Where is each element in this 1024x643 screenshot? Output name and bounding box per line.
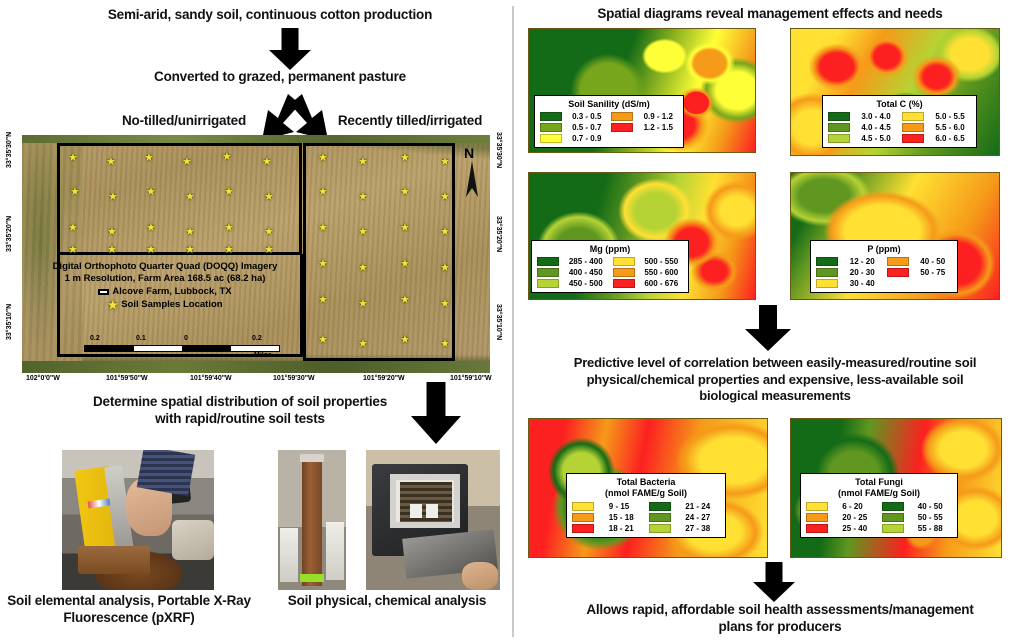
legend-swatch bbox=[816, 279, 838, 288]
legend-value: 21 - 24 bbox=[685, 502, 720, 511]
legend-swatch bbox=[572, 513, 594, 522]
legend-p: P (ppm) 12 - 20 40 - 50 20 - 30 50 - 75 … bbox=[810, 240, 958, 293]
map-vegetation-strip bbox=[22, 361, 490, 373]
sample-star: ★ bbox=[222, 152, 232, 163]
sample-star: ★ bbox=[224, 223, 234, 234]
sample-star: ★ bbox=[358, 263, 368, 274]
legend-swatch bbox=[816, 257, 838, 266]
photo1-caption: Soil elemental analysis, Portable X-Ray … bbox=[2, 592, 256, 627]
sample-star: ★ bbox=[318, 187, 328, 198]
operator-hand bbox=[462, 562, 498, 590]
legend-value: 6 - 20 bbox=[842, 502, 876, 511]
legend-swatch bbox=[537, 257, 559, 266]
legend-subtitle: (nmol FAME/g Soil) bbox=[572, 488, 720, 498]
soil-sample-tray bbox=[78, 546, 150, 574]
column-divider bbox=[512, 6, 514, 637]
legend-title: Mg (ppm) bbox=[537, 244, 683, 254]
sample-star: ★ bbox=[107, 227, 117, 238]
map-ytick-left-1: 33°35'20"N bbox=[6, 216, 13, 252]
legend-swatch bbox=[611, 112, 633, 121]
sample-star: ★ bbox=[440, 263, 450, 274]
legend-value: 600 - 676 bbox=[644, 279, 683, 288]
map-legend-farm: Alcove Farm, Lubbock, TX bbox=[112, 286, 231, 298]
sample-star: ★ bbox=[224, 245, 234, 256]
soil-core-tube bbox=[302, 454, 322, 586]
map-legend-samples: Soil Samples Location bbox=[121, 299, 222, 311]
sample-star: ★ bbox=[318, 295, 328, 306]
map-xtick-3: 101°59'30"W bbox=[273, 375, 315, 382]
step3-text: Determine spatial distribution of soil p… bbox=[80, 393, 400, 428]
photo2-caption: Soil physical, chemical analysis bbox=[262, 592, 512, 609]
arrow-step1-to-step2 bbox=[268, 28, 312, 70]
photo-pxrf-analyzer bbox=[62, 450, 214, 590]
legend-value: 3.0 - 4.0 bbox=[861, 112, 897, 121]
legend-swatch bbox=[882, 502, 904, 511]
legend-value: 55 - 88 bbox=[918, 524, 952, 533]
sample-star: ★ bbox=[185, 192, 195, 203]
legend-swatch bbox=[611, 123, 633, 132]
legend-swatch bbox=[649, 502, 671, 511]
legend-swatch bbox=[540, 134, 562, 143]
sample-star: ★ bbox=[264, 192, 274, 203]
legend-swatch bbox=[649, 513, 671, 522]
map-xtick-2: 101°59'40"W bbox=[190, 375, 232, 382]
legend-total-fungi: Total Fungi (nmol FAME/g Soil) 6 - 20 40… bbox=[800, 473, 958, 538]
sample-bags bbox=[172, 520, 214, 560]
legend-value: 25 - 40 bbox=[842, 524, 876, 533]
scale-bar bbox=[84, 345, 280, 352]
sample-star: ★ bbox=[185, 245, 195, 256]
legend-swatch bbox=[902, 123, 924, 132]
sample-star: ★ bbox=[358, 157, 368, 168]
step2-text: Converted to grazed, permanent pasture bbox=[90, 68, 470, 85]
legend-soil-salinity: Soil Sanility (dS/m) 0.3 - 0.5 0.9 - 1.2… bbox=[534, 95, 684, 148]
map-caption: Digital Orthophoto Quarter Quad (DOQQ) I… bbox=[30, 261, 300, 311]
legend-value: 12 - 20 bbox=[850, 257, 882, 266]
legend-title: Soil Sanility (dS/m) bbox=[540, 99, 678, 109]
legend-value: 0.9 - 1.2 bbox=[644, 112, 678, 121]
lab-bottle-right bbox=[326, 522, 344, 580]
sample-star: ★ bbox=[400, 187, 410, 198]
legend-value: 1.2 - 1.5 bbox=[644, 123, 678, 132]
legend-value: 50 - 75 bbox=[920, 268, 952, 277]
poster-root: Semi-arid, sandy soil, continuous cotton… bbox=[0, 0, 1024, 643]
legend-swatch bbox=[882, 513, 904, 522]
legend-swatch bbox=[806, 524, 828, 533]
sample-star: ★ bbox=[144, 153, 154, 164]
legend-value: 24 - 27 bbox=[685, 513, 720, 522]
sample-star: ★ bbox=[106, 157, 116, 168]
legend-value: 40 - 50 bbox=[918, 502, 952, 511]
sample-star: ★ bbox=[318, 153, 328, 164]
farm-boundary-swatch-icon bbox=[98, 289, 109, 295]
legend-value: 4.5 - 5.0 bbox=[861, 134, 897, 143]
legend-value: 550 - 600 bbox=[644, 268, 683, 277]
legend-value: 450 - 500 bbox=[569, 279, 608, 288]
sample-star: ★ bbox=[262, 157, 272, 168]
legend-value: 285 - 400 bbox=[569, 257, 608, 266]
map-ytick-left-0: 33°35'30"N bbox=[6, 132, 13, 168]
legend-total-bacteria: Total Bacteria (nmol FAME/g Soil) 9 - 15… bbox=[566, 473, 726, 538]
legend-mg: Mg (ppm) 285 - 400 500 - 550 400 - 450 5… bbox=[531, 240, 689, 293]
sample-star: ★ bbox=[400, 223, 410, 234]
legend-swatch bbox=[540, 123, 562, 132]
map-ytick-right-0: 33°35'30"N bbox=[495, 132, 502, 168]
legend-value: 0.7 - 0.9 bbox=[572, 134, 606, 143]
legend-value: 15 - 18 bbox=[609, 513, 644, 522]
map-caption-line2: 1 m Resolution, Farm Area 168.5 ac (68.2… bbox=[30, 273, 300, 285]
legend-value: 30 - 40 bbox=[850, 279, 882, 288]
legend-swatch bbox=[806, 513, 828, 522]
legend-value: 0.3 - 0.5 bbox=[572, 112, 606, 121]
sample-star: ★ bbox=[264, 245, 274, 256]
map-ytick-left-2: 33°35'10"N bbox=[6, 304, 13, 340]
scale-bar-group: 0.2 0.1 0 0.2 Miles bbox=[84, 335, 284, 345]
core-tube-cap bbox=[300, 454, 324, 462]
legend-value: 27 - 38 bbox=[685, 524, 720, 533]
north-label: N bbox=[464, 145, 474, 161]
legend-value: 500 - 550 bbox=[644, 257, 683, 266]
legend-value: 0.5 - 0.7 bbox=[572, 123, 606, 132]
legend-swatch bbox=[649, 524, 671, 533]
sample-star: ★ bbox=[318, 259, 328, 270]
step1-text: Semi-arid, sandy soil, continuous cotton… bbox=[60, 6, 480, 23]
legend-subtitle: (nmol FAME/g Soil) bbox=[806, 488, 952, 498]
legend-total-c: Total C (%) 3.0 - 4.0 5.0 - 5.5 4.0 - 4.… bbox=[822, 95, 977, 148]
legend-title: Total Fungi bbox=[806, 477, 952, 487]
sample-star: ★ bbox=[358, 227, 368, 238]
sample-star: ★ bbox=[400, 153, 410, 164]
legend-swatch bbox=[613, 279, 635, 288]
sample-star: ★ bbox=[146, 245, 156, 256]
legend-swatch bbox=[828, 123, 850, 132]
map-ytick-right-2: 33°35'10"N bbox=[495, 304, 502, 340]
sample-star: ★ bbox=[264, 227, 274, 238]
legend-value: 5.0 - 5.5 bbox=[935, 112, 971, 121]
map-xtick-5: 101°59'10"W bbox=[450, 375, 492, 382]
legend-value: 20 - 25 bbox=[842, 513, 876, 522]
sample-star: ★ bbox=[358, 192, 368, 203]
legend-swatch bbox=[887, 268, 909, 277]
legend-value: 6.0 - 6.5 bbox=[935, 134, 971, 143]
sample-star: ★ bbox=[182, 157, 192, 168]
legend-swatch bbox=[537, 279, 559, 288]
sample-star: ★ bbox=[440, 227, 450, 238]
legend-value: 20 - 30 bbox=[850, 268, 882, 277]
legend-swatch bbox=[816, 268, 838, 277]
sample-star: ★ bbox=[318, 335, 328, 346]
right-heading: Spatial diagrams reveal management effec… bbox=[540, 5, 1000, 22]
legend-value: 18 - 21 bbox=[609, 524, 644, 533]
legend-value: 400 - 450 bbox=[569, 268, 608, 277]
sample-star: ★ bbox=[400, 335, 410, 346]
sample-star: ★ bbox=[440, 157, 450, 168]
sample-star: ★ bbox=[68, 245, 78, 256]
legend-value: 50 - 55 bbox=[918, 513, 952, 522]
correlation-text: Predictive level of correlation between … bbox=[570, 355, 980, 405]
arrow-map-to-photos bbox=[410, 382, 462, 446]
legend-title: P (ppm) bbox=[816, 244, 952, 254]
legend-swatch bbox=[613, 257, 635, 266]
conclusion-text: Allows rapid, affordable soil health ass… bbox=[580, 601, 980, 636]
legend-title: Total Bacteria bbox=[572, 477, 720, 487]
arrow-rasters-to-correlation bbox=[744, 305, 792, 351]
sample-star: ★ bbox=[440, 192, 450, 203]
scale-tick-3: 0.2 bbox=[252, 335, 262, 342]
scale-units: Miles bbox=[254, 352, 272, 359]
sample-star: ★ bbox=[224, 187, 234, 198]
farm-map[interactable]: ★ ★ ★ ★ ★ ★ ★ ★ ★ ★ ★ ★ ★ ★ ★ ★ ★ ★ ★ ★ … bbox=[22, 135, 490, 373]
map-ytick-right-1: 33°35'20"N bbox=[495, 216, 502, 252]
sample-star: ★ bbox=[185, 227, 195, 238]
scale-tick-2: 0 bbox=[184, 335, 188, 342]
legend-swatch bbox=[806, 502, 828, 511]
sample-star: ★ bbox=[400, 295, 410, 306]
core-tube-tape bbox=[300, 574, 324, 582]
legend-swatch bbox=[572, 524, 594, 533]
scale-tick-1: 0.1 bbox=[136, 335, 146, 342]
photo-muffle-furnace bbox=[366, 450, 500, 590]
sample-star: ★ bbox=[440, 299, 450, 310]
sample-star: ★ bbox=[108, 192, 118, 203]
arrow-to-conclusion bbox=[752, 562, 796, 604]
crucible bbox=[426, 504, 438, 518]
plot-boundary-tilled bbox=[303, 143, 455, 361]
legend-swatch bbox=[902, 112, 924, 121]
sample-star: ★ bbox=[146, 223, 156, 234]
legend-swatch bbox=[828, 112, 850, 121]
legend-swatch bbox=[887, 257, 909, 266]
sample-star: ★ bbox=[70, 187, 80, 198]
sample-star: ★ bbox=[146, 187, 156, 198]
sample-star-icon: ★ bbox=[107, 299, 118, 311]
legend-swatch bbox=[882, 524, 904, 533]
legend-title: Total C (%) bbox=[828, 99, 971, 109]
sample-star: ★ bbox=[358, 299, 368, 310]
sample-star: ★ bbox=[68, 223, 78, 234]
crucible bbox=[410, 504, 422, 518]
sample-star: ★ bbox=[318, 223, 328, 234]
map-caption-line1: Digital Orthophoto Quarter Quad (DOQQ) I… bbox=[30, 261, 300, 273]
photo-soil-column bbox=[278, 450, 346, 590]
lab-bottle-left bbox=[280, 528, 298, 582]
legend-swatch bbox=[537, 268, 559, 277]
legend-value: 5.5 - 6.0 bbox=[935, 123, 971, 132]
map-vegetation-strip-top bbox=[22, 135, 490, 143]
map-xtick-4: 101°59'20"W bbox=[363, 375, 405, 382]
legend-swatch bbox=[828, 134, 850, 143]
sample-star: ★ bbox=[107, 245, 117, 256]
sample-star: ★ bbox=[358, 339, 368, 350]
north-arrow-icon bbox=[464, 161, 480, 199]
legend-value: 4.0 - 4.5 bbox=[861, 123, 897, 132]
label-recently-tilled: Recently tilled/irrigated bbox=[310, 112, 510, 129]
legend-swatch bbox=[540, 112, 562, 121]
legend-swatch bbox=[902, 134, 924, 143]
sample-star: ★ bbox=[440, 339, 450, 350]
scale-tick-0: 0.2 bbox=[90, 335, 100, 342]
legend-swatch bbox=[613, 268, 635, 277]
legend-value: 9 - 15 bbox=[609, 502, 644, 511]
map-xtick-1: 101°59'50"W bbox=[106, 375, 148, 382]
sample-star: ★ bbox=[400, 259, 410, 270]
sample-star: ★ bbox=[68, 153, 78, 164]
map-xtick-0: 102°0'0"W bbox=[26, 375, 60, 382]
legend-value: 40 - 50 bbox=[920, 257, 952, 266]
legend-swatch bbox=[572, 502, 594, 511]
label-no-tilled: No-tilled/unirrigated bbox=[84, 112, 284, 129]
